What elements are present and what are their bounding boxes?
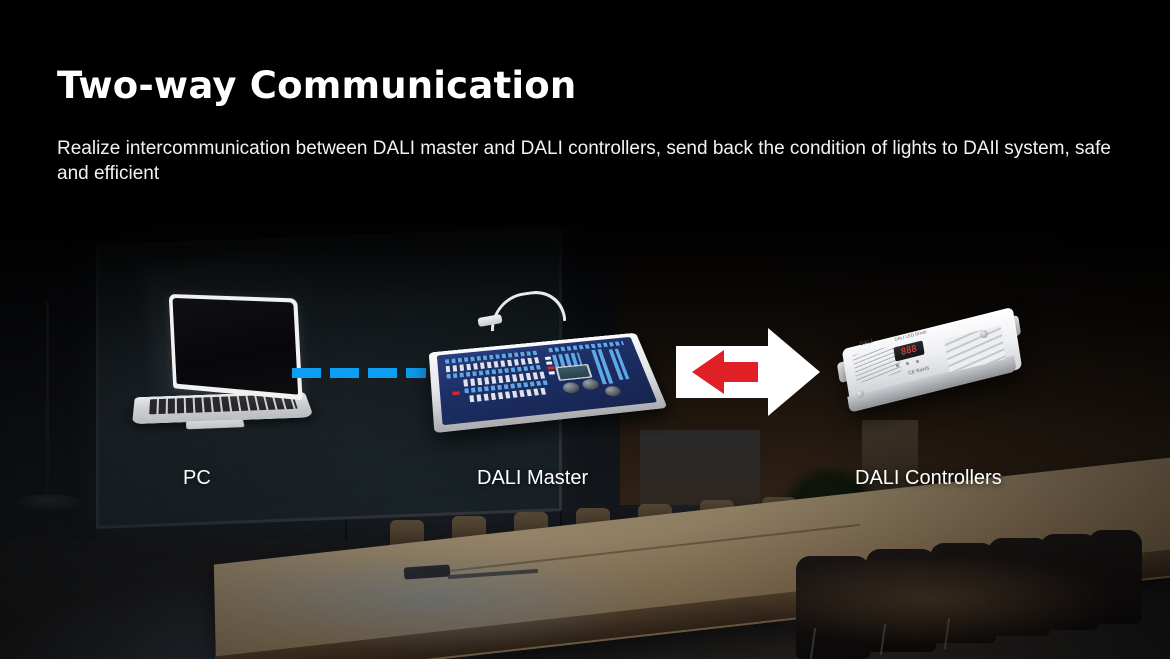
console-jog-wheel <box>562 382 581 394</box>
dash-segment <box>292 368 321 378</box>
page-subtitle: Realize intercommunication between DALI … <box>57 136 1117 186</box>
console-key <box>545 356 552 360</box>
console-key-red <box>452 391 460 395</box>
dashed-connector-pc-to-master <box>292 368 426 378</box>
console-key <box>546 361 553 365</box>
label-dali-controllers: DALI Controllers <box>855 467 1002 490</box>
driver-indicator-dot <box>896 364 899 367</box>
bidirectional-arrow-icon <box>676 328 820 416</box>
console-key-red <box>547 366 555 370</box>
laptop-screen <box>172 298 298 395</box>
label-pc: PC <box>183 467 211 490</box>
driver-screw <box>980 330 988 338</box>
driver-indicator-dot <box>916 360 919 363</box>
label-dali-master: DALI Master <box>477 467 588 490</box>
driver-display-value: 888 <box>900 345 917 358</box>
laptop-lid <box>169 294 303 400</box>
gooseneck-lamp-arm <box>490 287 566 332</box>
console-jog-wheel <box>581 378 600 390</box>
page-title: Two-way Communication <box>57 64 576 107</box>
dali-driver-icon: DALI DALI LED Driver 888 CE RoHS <box>838 306 1026 444</box>
dash-segment <box>330 368 359 378</box>
driver-screw <box>856 390 864 398</box>
laptop-icon <box>128 296 312 444</box>
console-jog-wheel <box>604 385 622 396</box>
slide-stage: Two-way Communication Realize intercommu… <box>0 0 1170 659</box>
driver-indicator-dot <box>906 362 909 365</box>
dash-segment <box>406 368 426 378</box>
lighting-console-icon <box>428 292 660 454</box>
console-key <box>548 371 555 375</box>
dash-segment <box>368 368 397 378</box>
laptop-trackpad <box>186 419 245 430</box>
